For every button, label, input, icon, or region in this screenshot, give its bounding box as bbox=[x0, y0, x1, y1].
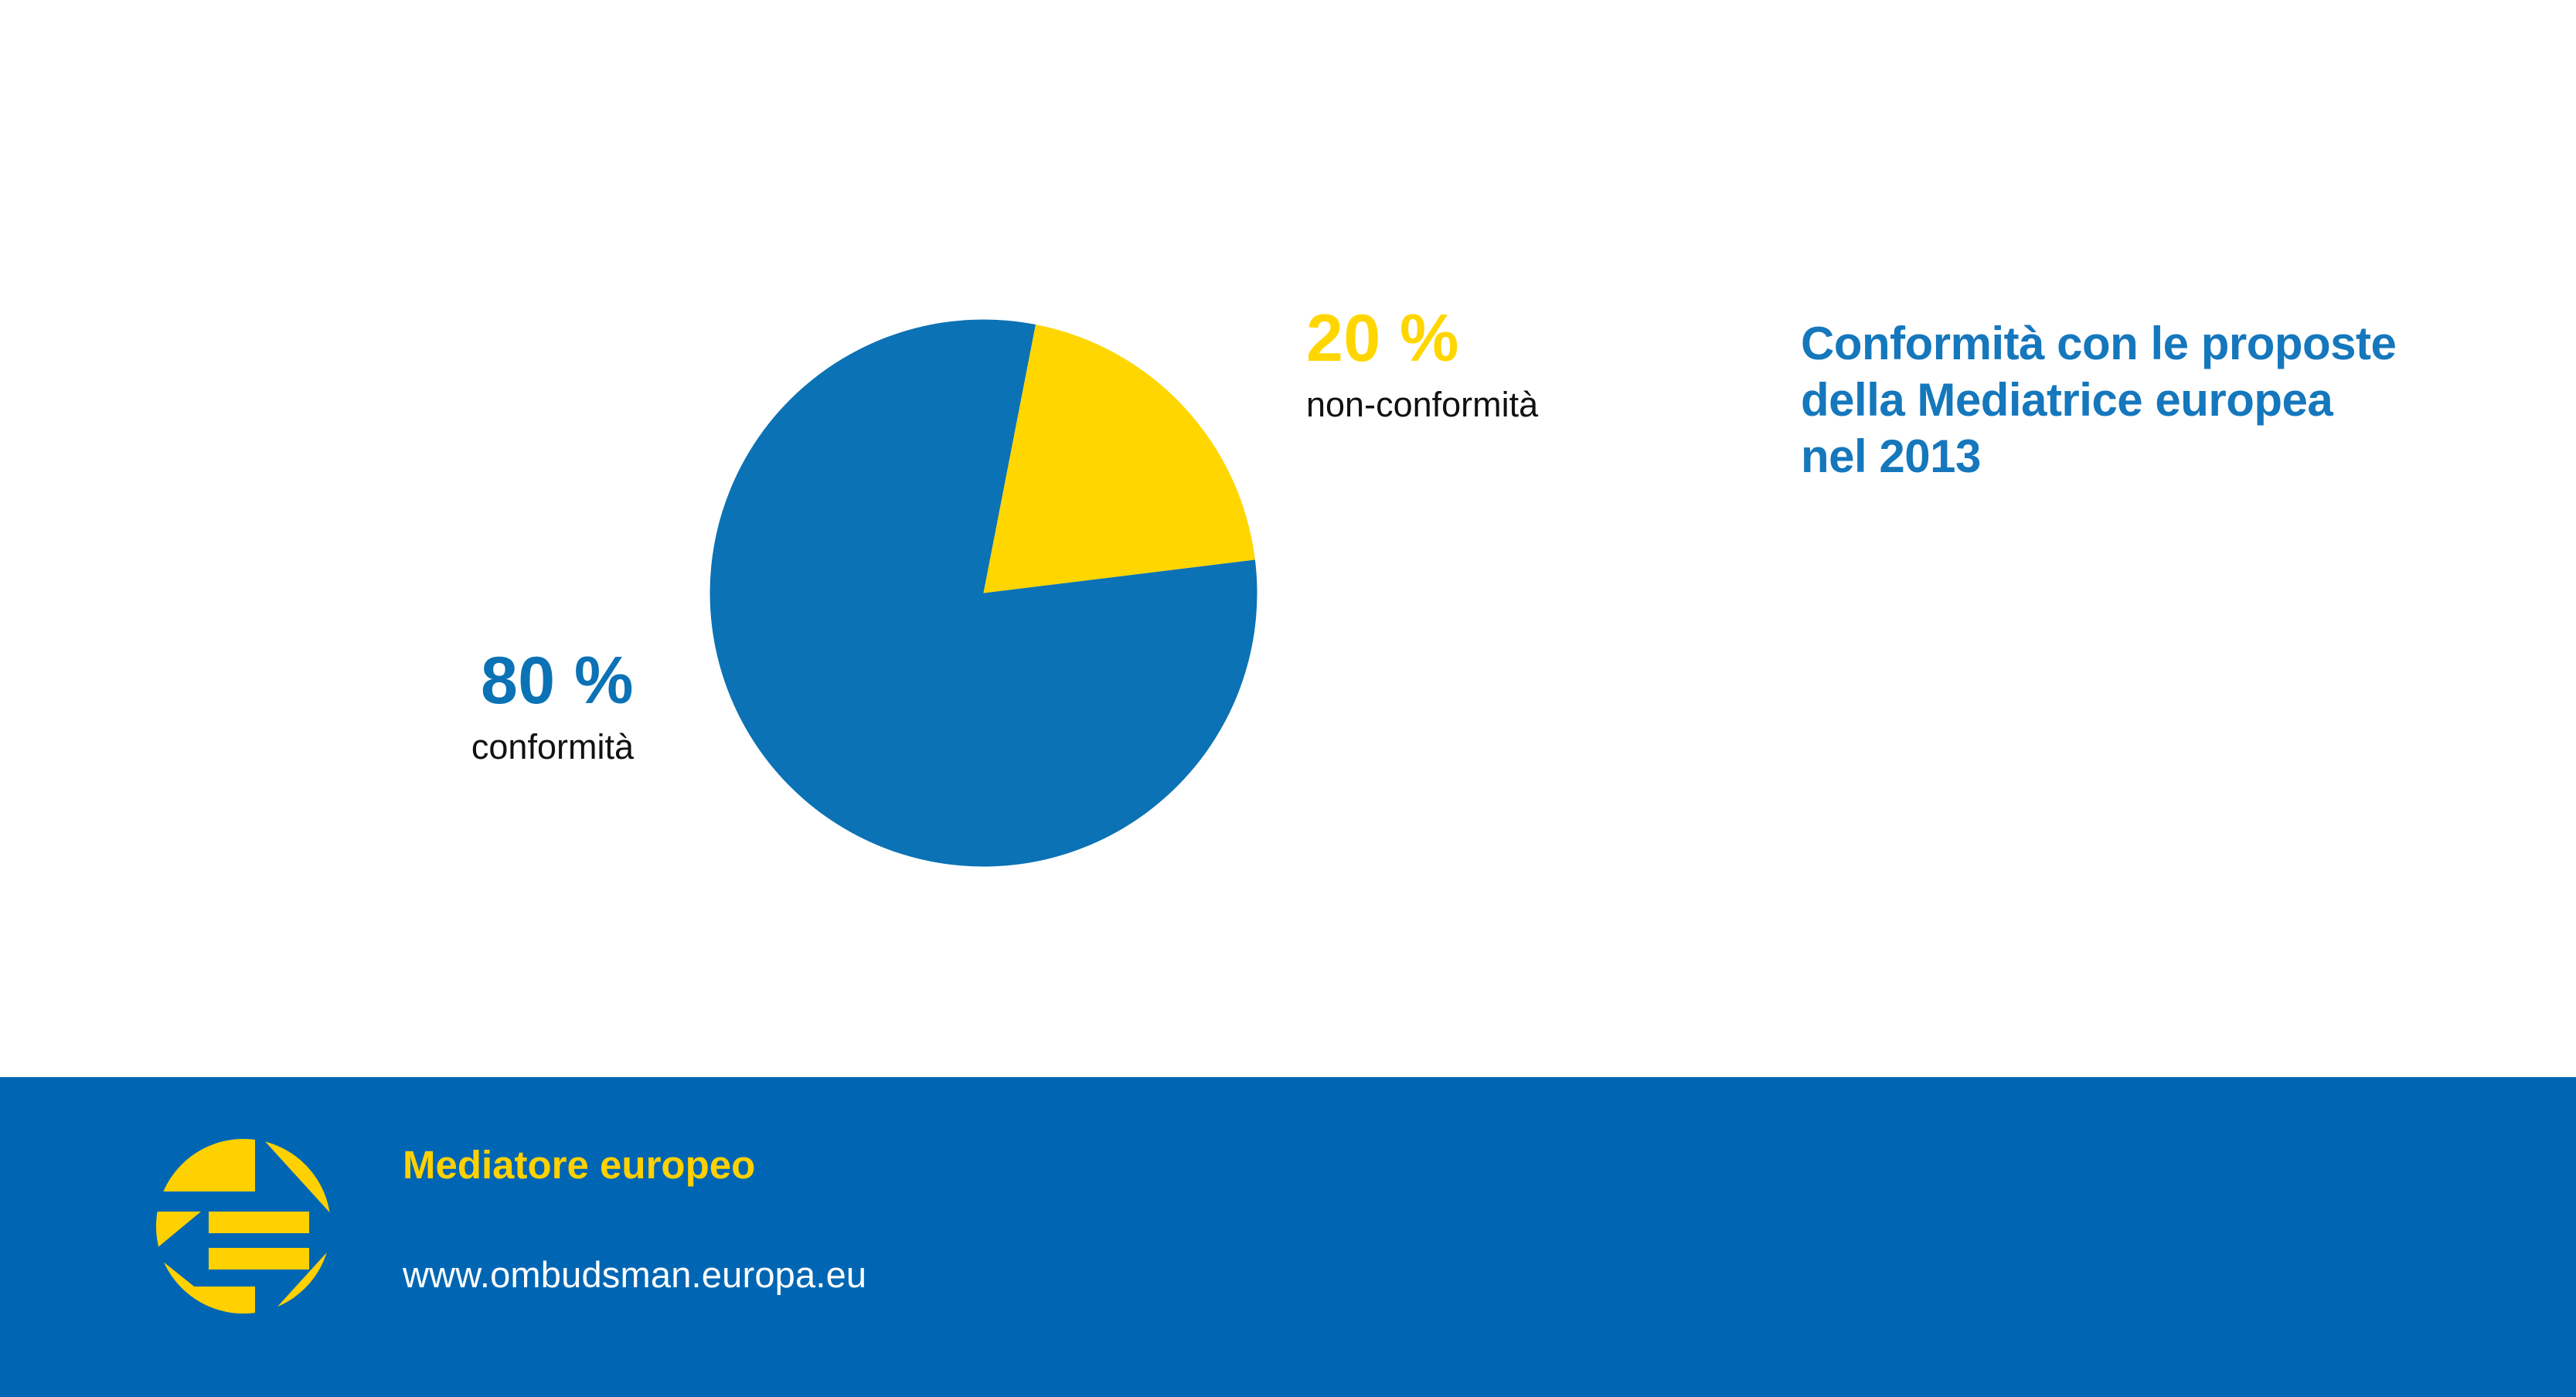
non-conformita-label: non-conformità bbox=[1306, 387, 1801, 422]
conformita-label: conformità bbox=[309, 729, 634, 764]
european-ombudsman-logo-icon bbox=[155, 1137, 332, 1315]
callout-conformita: 80 % conformità bbox=[309, 648, 634, 764]
pie-chart bbox=[699, 309, 1268, 877]
chart-title-line-1: Conformità con le proposte bbox=[1801, 315, 2496, 372]
pie-chart-area bbox=[0, 0, 1747, 1078]
footer-text-block: Mediatore europeo www.ombudsman.europa.e… bbox=[403, 1143, 1639, 1297]
chart-title: Conformità con le proposte della Mediatr… bbox=[1801, 315, 2496, 484]
organisation-name: Mediatore europeo bbox=[403, 1143, 1639, 1188]
conformita-percent-value: 80 % bbox=[309, 648, 634, 714]
non-conformita-percent-value: 20 % bbox=[1306, 305, 1801, 372]
chart-title-line-3: nel 2013 bbox=[1801, 428, 2496, 484]
callout-non-conformita: 20 % non-conformità bbox=[1306, 305, 1801, 422]
infographic-page: 80 % conformità 20 % non-conformità Conf… bbox=[0, 0, 2576, 1397]
website-url[interactable]: www.ombudsman.europa.eu bbox=[403, 1253, 1639, 1297]
chart-title-line-2: della Mediatrice europea bbox=[1801, 372, 2496, 428]
